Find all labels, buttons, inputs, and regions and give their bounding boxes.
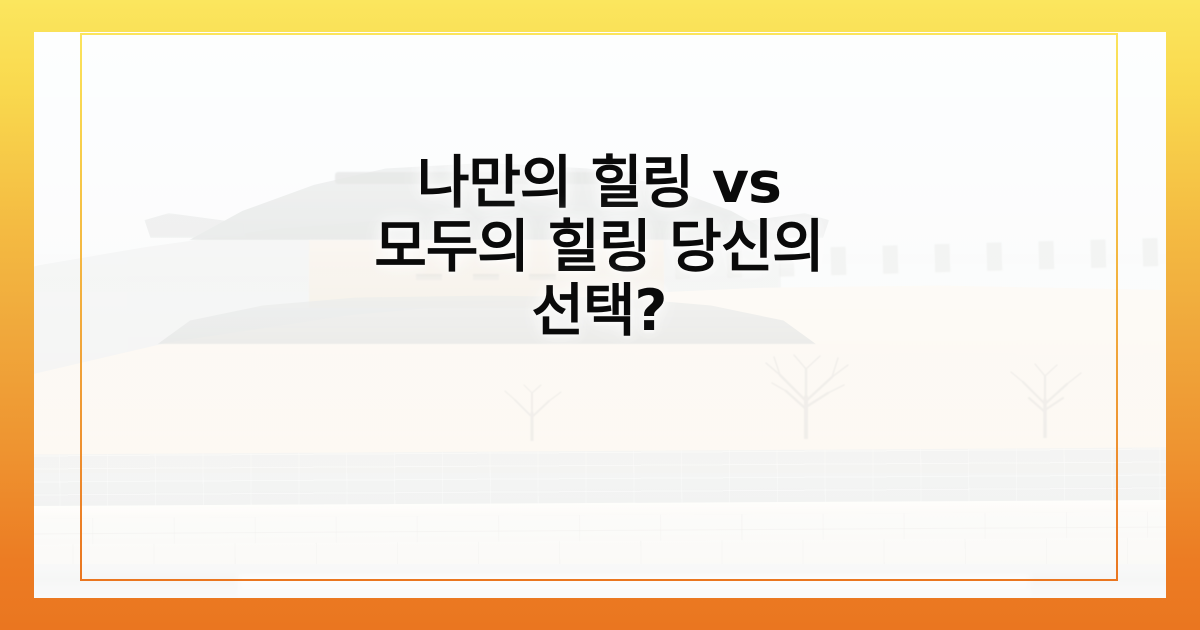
roof-ridge — [335, 172, 639, 183]
bare-tree-icon — [985, 360, 1105, 438]
right-eave — [728, 213, 829, 238]
bare-tree-icon — [487, 383, 577, 441]
gate-pavilion — [170, 145, 804, 371]
upper-roof — [189, 159, 785, 241]
grey-brick-wall — [34, 447, 1166, 508]
left-eave — [144, 213, 245, 238]
ground-sheen — [238, 575, 1030, 598]
background-photo — [34, 32, 1166, 598]
photo-frame — [34, 32, 1166, 598]
lower-roof — [157, 295, 816, 345]
bare-tree-icon — [736, 349, 876, 439]
pavilion-window — [473, 274, 500, 280]
pavilion-window — [416, 274, 443, 280]
pavilion-window — [529, 274, 556, 280]
poster-canvas: 나만의 힐링 vs 모두의 힐링 당신의 선택? — [0, 0, 1200, 630]
